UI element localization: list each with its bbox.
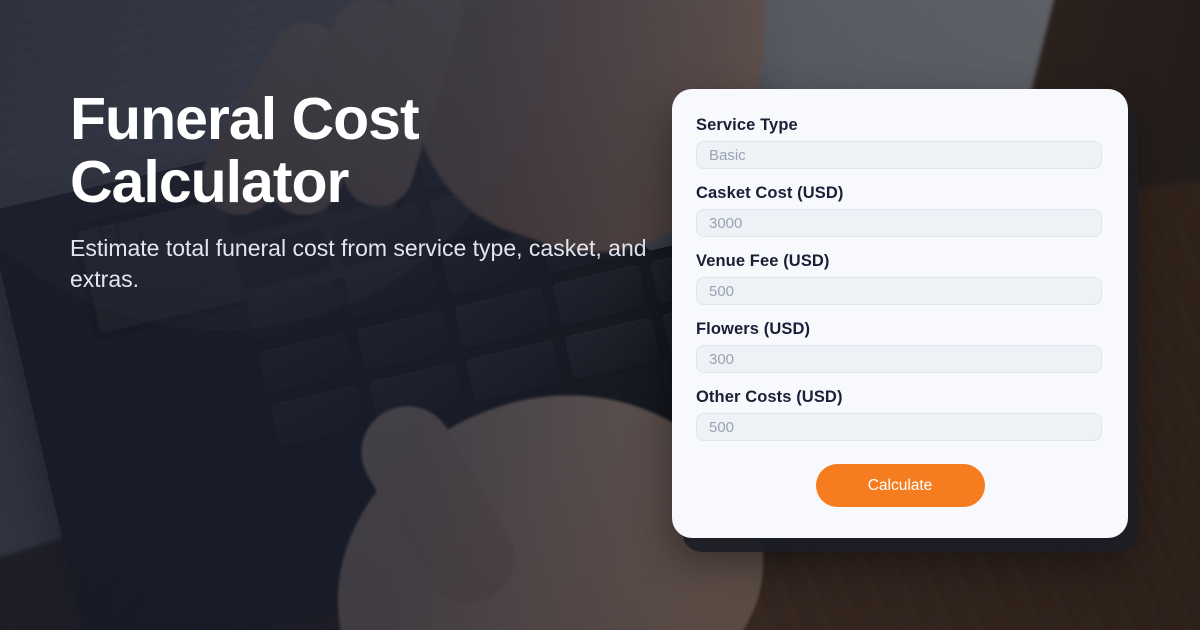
- casket-cost-input[interactable]: [696, 209, 1102, 237]
- calculate-button[interactable]: Calculate: [816, 464, 985, 507]
- field-label-other-costs: Other Costs (USD): [696, 388, 1104, 407]
- page-subtitle: Estimate total funeral cost from service…: [70, 233, 670, 294]
- field-label-service-type: Service Type: [696, 116, 1104, 135]
- page-content: Funeral Cost Calculator Estimate total f…: [0, 0, 1200, 630]
- page-stage: 0.: [0, 0, 1200, 630]
- other-costs-input[interactable]: [696, 413, 1102, 441]
- field-venue-fee: Venue Fee (USD): [696, 252, 1104, 305]
- venue-fee-input[interactable]: [696, 277, 1102, 305]
- hero-section: Funeral Cost Calculator Estimate total f…: [70, 88, 670, 294]
- field-label-flowers: Flowers (USD): [696, 320, 1104, 339]
- flowers-input[interactable]: [696, 345, 1102, 373]
- field-other-costs: Other Costs (USD): [696, 388, 1104, 441]
- page-title: Funeral Cost Calculator: [70, 88, 670, 213]
- service-type-input[interactable]: [696, 141, 1102, 169]
- field-casket-cost: Casket Cost (USD): [696, 184, 1104, 237]
- field-service-type: Service Type: [696, 116, 1104, 169]
- field-label-casket-cost: Casket Cost (USD): [696, 184, 1104, 203]
- calculator-form-card: Service Type Casket Cost (USD) Venue Fee…: [672, 89, 1128, 538]
- form-actions: Calculate: [672, 464, 1128, 507]
- field-flowers: Flowers (USD): [696, 320, 1104, 373]
- field-label-venue-fee: Venue Fee (USD): [696, 252, 1104, 271]
